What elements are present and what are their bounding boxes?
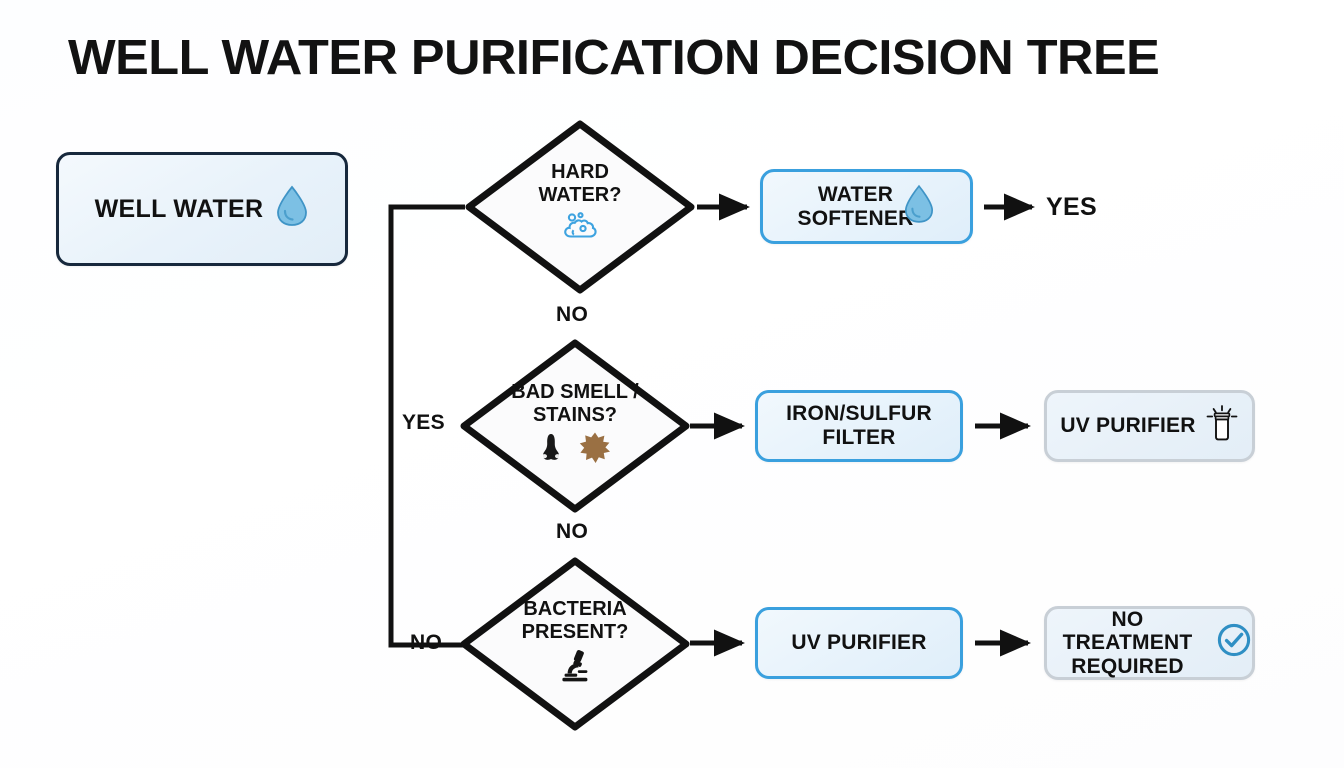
node-terminal-yes: YES (1046, 193, 1097, 222)
node-well-water-label: WELL WATER (95, 195, 264, 223)
water-droplet-icon (903, 184, 935, 230)
edge-label-branch-no: NO (410, 631, 442, 655)
node-iron-sulfur-filter-label: IRON/SULFUR FILTER (786, 402, 932, 449)
edge-label-decision-1-no: NO (556, 303, 588, 327)
node-decision-bacteria[interactable]: BACTERIA PRESENT? (458, 555, 692, 733)
node-water-softener-label: WATER SOFTENER (798, 183, 914, 230)
node-water-softener[interactable]: WATER SOFTENER (760, 169, 973, 244)
diamond-shape (458, 337, 692, 515)
diagram-canvas: WELL WATER PURIFICATION DECISION TREE (0, 0, 1344, 768)
node-uv-purifier-terminal-label: UV PURIFIER (1060, 414, 1195, 438)
uv-lamp-icon (1205, 404, 1239, 448)
diamond-shape (463, 118, 697, 296)
page-title: WELL WATER PURIFICATION DECISION TREE (68, 30, 1159, 86)
node-uv-purifier-terminal[interactable]: UV PURIFIER (1044, 390, 1255, 462)
edge-label-branch-yes: YES (402, 411, 445, 435)
check-circle-icon (1216, 622, 1252, 664)
node-uv-purifier-action[interactable]: UV PURIFIER (755, 607, 963, 679)
node-uv-purifier-action-label: UV PURIFIER (791, 631, 926, 655)
node-well-water[interactable]: WELL WATER (56, 152, 348, 266)
water-droplet-icon (275, 185, 309, 233)
node-iron-sulfur-filter[interactable]: IRON/SULFUR FILTER (755, 390, 963, 462)
node-no-treatment-required-label: NO TREATMENT REQUIRED (1047, 608, 1208, 679)
edge-label-decision-2-no: NO (556, 520, 588, 544)
diamond-shape (458, 555, 692, 733)
node-decision-hard-water[interactable]: HARD WATER? (463, 118, 697, 296)
node-decision-bad-smell[interactable]: BAD SMELL / STAINS? (458, 337, 692, 515)
node-no-treatment-required[interactable]: NO TREATMENT REQUIRED (1044, 606, 1255, 680)
